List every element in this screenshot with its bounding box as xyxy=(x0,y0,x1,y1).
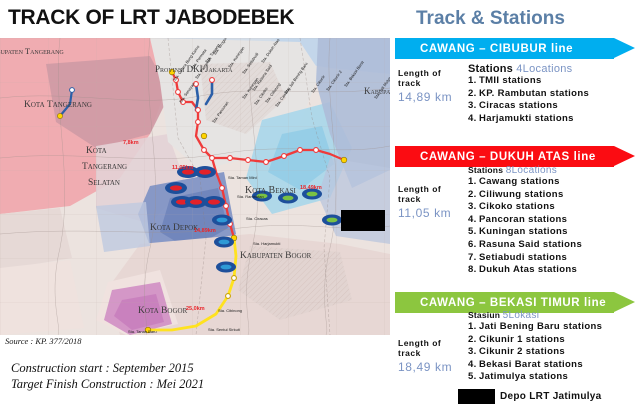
station-number: 1. xyxy=(468,176,479,189)
map-station-label: Sta. Ciracas xyxy=(246,216,268,221)
station-number: 1. xyxy=(468,321,479,334)
stations-word: Stasiun xyxy=(468,310,500,320)
stations-count: 5Lokasi xyxy=(503,310,540,321)
line-banner-2[interactable]: CAWANG – DUKUH ATAS line xyxy=(395,146,635,167)
depot-legend: Depo LRT Jatimulya xyxy=(458,389,602,404)
station-name: Cikoko stations xyxy=(479,201,555,212)
station-name: Kuningan stations xyxy=(479,226,568,237)
station-number: 4. xyxy=(468,359,479,372)
station-number: 4. xyxy=(468,214,479,227)
station-item[interactable]: 3.Cikoko stations xyxy=(468,201,639,214)
banner-label: CAWANG – BEKASI TIMUR line xyxy=(395,297,606,309)
stations-ordered-list: 1.TMII stations2.KP. Rambutan stations3.… xyxy=(468,75,639,125)
station-name: Pancoran stations xyxy=(479,214,567,225)
depot-black-box-map xyxy=(341,210,385,231)
station-name: Cawang stations xyxy=(479,176,560,187)
stations-ordered-list: 1.Jati Bening Baru stations2.Cikunir 1 s… xyxy=(468,321,639,384)
station-item[interactable]: 6.Rasuna Said stations xyxy=(468,239,639,252)
station-item[interactable]: 1.Jati Bening Baru stations xyxy=(468,321,639,334)
map-station-label: Sta. Sentul Sirkuit xyxy=(208,327,240,332)
station-name: Ciracas stations xyxy=(479,100,558,111)
stations-count: 4Locations xyxy=(516,63,572,75)
station-item[interactable]: 4.Harjamukti stations xyxy=(468,113,639,126)
length-of-track-3: Length oftrack18,49 km xyxy=(398,338,468,374)
stations-count: 8Locations xyxy=(506,165,557,176)
depot-color-swatch xyxy=(458,389,495,404)
banner-arrow-tip xyxy=(614,38,635,58)
length-value: 18,49 km xyxy=(398,360,468,374)
station-item[interactable]: 7.Setiabudi stations xyxy=(468,252,639,265)
banner-label: CAWANG – DUKUH ATAS line xyxy=(395,151,596,163)
length-of-track-2: Length oftrack11,05 km xyxy=(398,184,468,220)
stations-word: Stations xyxy=(468,63,513,75)
station-number: 7. xyxy=(468,252,479,265)
map-distance-label: 7,8km xyxy=(123,140,139,146)
length-label-line1: Length of xyxy=(398,68,468,78)
station-name: Jati Bening Baru stations xyxy=(479,321,602,332)
map-station-label: Sta. Cibinong xyxy=(218,308,242,313)
map-canvas[interactable]: Kabupaten TangerangKota TangerangKotaTan… xyxy=(0,38,390,335)
station-name: Setiabudi stations xyxy=(479,252,567,263)
infographic-root: TRACK OF LRT JABODEBEK xyxy=(0,0,639,413)
banner-arrow-tip xyxy=(614,292,635,312)
station-item[interactable]: 2.Ciliwung stations xyxy=(468,189,639,202)
station-item[interactable]: 1.TMII stations xyxy=(468,75,639,88)
station-name: Cikunir 2 stations xyxy=(479,346,565,357)
station-number: 5. xyxy=(468,226,479,239)
station-number: 6. xyxy=(468,239,479,252)
map-station-label: Sta. Taman Mini xyxy=(228,175,257,180)
station-name: Cikunir 1 stations xyxy=(479,334,565,345)
stations-word: Stations xyxy=(468,165,503,175)
map-station-label: Sta. Tanah Baru xyxy=(128,329,157,334)
station-number: 2. xyxy=(468,334,479,347)
station-item[interactable]: 3.Ciracas stations xyxy=(468,100,639,113)
length-label-line2: track xyxy=(398,78,468,88)
construction-notes: Construction start : September 2015 Targ… xyxy=(11,360,204,392)
source-note: Source : KP. 377/2018 xyxy=(5,336,82,346)
map-station-label: Sta. Harjamukti xyxy=(253,241,280,246)
length-label-line1: Length of xyxy=(398,338,468,348)
station-list-1: Stations 4Locations1.TMII stations2.KP. … xyxy=(468,63,639,125)
length-value: 14,89 km xyxy=(398,90,468,104)
map-distance-label: 18,49km xyxy=(300,185,322,191)
map-distance-label: 11,05km xyxy=(172,165,193,171)
station-name: Rasuna Said stations xyxy=(479,239,582,250)
station-number: 8. xyxy=(468,264,479,277)
station-item[interactable]: 5.Jatimulya stations xyxy=(468,371,639,384)
station-number: 2. xyxy=(468,88,479,101)
length-label-line1: Length of xyxy=(398,184,468,194)
map-distance-label: 25,0km xyxy=(186,306,205,312)
stations-heading: Stasiun 5Lokasi xyxy=(468,310,639,321)
station-item[interactable]: 3.Cikunir 2 stations xyxy=(468,346,639,359)
station-item[interactable]: 5.Kuningan stations xyxy=(468,226,639,239)
station-number: 5. xyxy=(468,371,479,384)
station-list-2: Stations 8Locations1.Cawang stations2.Ci… xyxy=(468,165,639,277)
length-of-track-1: Length oftrack14,89 km xyxy=(398,68,468,104)
construction-start: Construction start : September 2015 xyxy=(11,360,204,376)
stations-heading: Stations 8Locations xyxy=(468,165,639,176)
station-name: KP. Rambutan stations xyxy=(479,88,589,99)
banner-arrow-tip xyxy=(614,146,635,166)
panel-title: Track & Stations xyxy=(416,8,565,30)
depot-label: Depo LRT Jatimulya xyxy=(500,391,602,402)
station-name: Dukuh Atas stations xyxy=(479,264,577,275)
stations-ordered-list: 1.Cawang stations2.Ciliwung stations3.Ci… xyxy=(468,176,639,277)
station-number: 4. xyxy=(468,113,479,126)
station-name: Bekasi Barat stations xyxy=(479,359,583,370)
station-item[interactable]: 4.Pancoran stations xyxy=(468,214,639,227)
station-item[interactable]: 4.Bekasi Barat stations xyxy=(468,359,639,372)
right-panel: Track & Stations CAWANG – CIBUBUR lineLe… xyxy=(390,0,639,413)
station-item[interactable]: 8.Dukuh Atas stations xyxy=(468,264,639,277)
map-station-label: Sta. Rambutan xyxy=(237,194,264,199)
station-number: 3. xyxy=(468,346,479,359)
banner-label: CAWANG – CIBUBUR line xyxy=(395,43,573,55)
station-item[interactable]: 1.Cawang stations xyxy=(468,176,639,189)
station-item[interactable]: 2.KP. Rambutan stations xyxy=(468,88,639,101)
length-value: 11,05 km xyxy=(398,206,468,220)
station-number: 1. xyxy=(468,75,479,88)
target-finish: Target Finish Construction : Mei 2021 xyxy=(11,376,204,392)
station-name: Harjamukti stations xyxy=(479,113,574,124)
map-distance-label: 14,89km xyxy=(194,228,216,234)
stations-heading: Stations 4Locations xyxy=(468,63,639,75)
station-number: 2. xyxy=(468,189,479,202)
station-number: 3. xyxy=(468,100,479,113)
station-name: TMII stations xyxy=(479,75,542,86)
length-label-line2: track xyxy=(398,194,468,204)
station-item[interactable]: 2.Cikunir 1 stations xyxy=(468,334,639,347)
page-title: TRACK OF LRT JABODEBEK xyxy=(8,6,378,34)
station-name: Jatimulya stations xyxy=(479,371,568,382)
station-name: Ciliwung stations xyxy=(479,189,564,200)
line-banner-1[interactable]: CAWANG – CIBUBUR line xyxy=(395,38,635,59)
station-list-3: Stasiun 5Lokasi1.Jati Bening Baru statio… xyxy=(468,310,639,384)
station-number: 3. xyxy=(468,201,479,214)
length-label-line2: track xyxy=(398,348,468,358)
